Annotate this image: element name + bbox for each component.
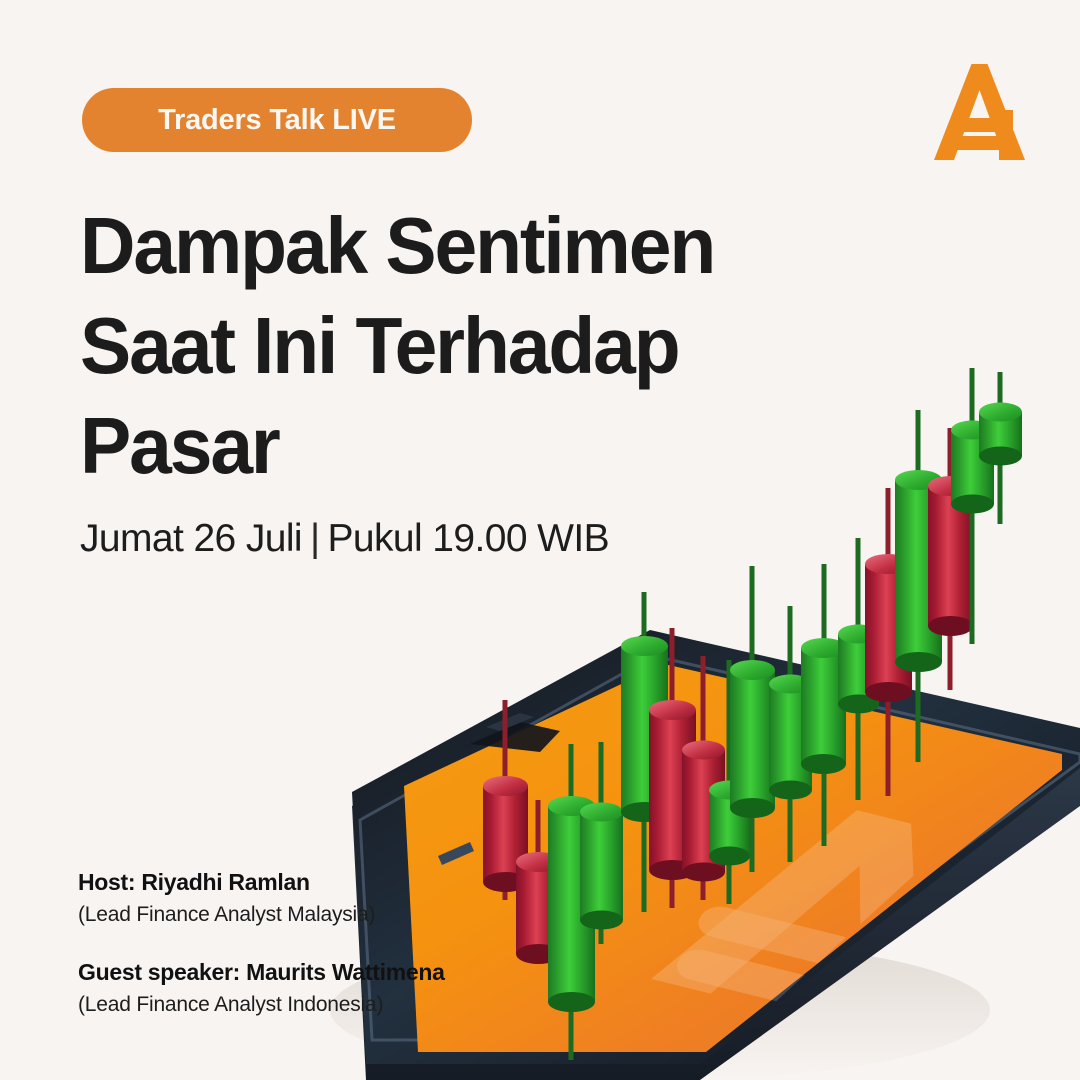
- schedule-line: Jumat 26 Juli|Pukul 19.00 WIB: [80, 515, 609, 563]
- title-line-2: Saat Ini Terhadap: [80, 296, 810, 396]
- guest-name: Guest speaker: Maurits Wattimena: [78, 956, 598, 988]
- schedule-time: Pukul 19.00 WIB: [328, 517, 609, 560]
- guest-role: (Lead Finance Analyst Indonesia): [78, 990, 598, 1020]
- host-role: (Lead Finance Analyst Malaysia): [78, 900, 598, 930]
- live-badge-label: Traders Talk LIVE: [158, 104, 396, 137]
- page-title: Dampak Sentimen Saat Ini Terhadap Pasar: [80, 196, 810, 496]
- host-name: Host: Riyadhi Ramlan: [78, 866, 598, 898]
- brand-a-logo-icon: [933, 62, 1029, 162]
- credits-block: Host: Riyadhi Ramlan (Lead Finance Analy…: [78, 866, 598, 1020]
- live-badge: Traders Talk LIVE: [82, 88, 472, 152]
- schedule-date: Jumat 26 Juli: [80, 517, 302, 560]
- schedule-separator: |: [302, 517, 328, 560]
- title-line-1: Dampak Sentimen: [80, 196, 810, 296]
- credit-host: Host: Riyadhi Ramlan (Lead Finance Analy…: [78, 866, 598, 930]
- credit-guest: Guest speaker: Maurits Wattimena (Lead F…: [78, 956, 598, 1020]
- title-line-3: Pasar: [80, 396, 810, 496]
- poster-canvas: Traders Talk LIVE Dampak Sentimen Saat I…: [0, 0, 1080, 1080]
